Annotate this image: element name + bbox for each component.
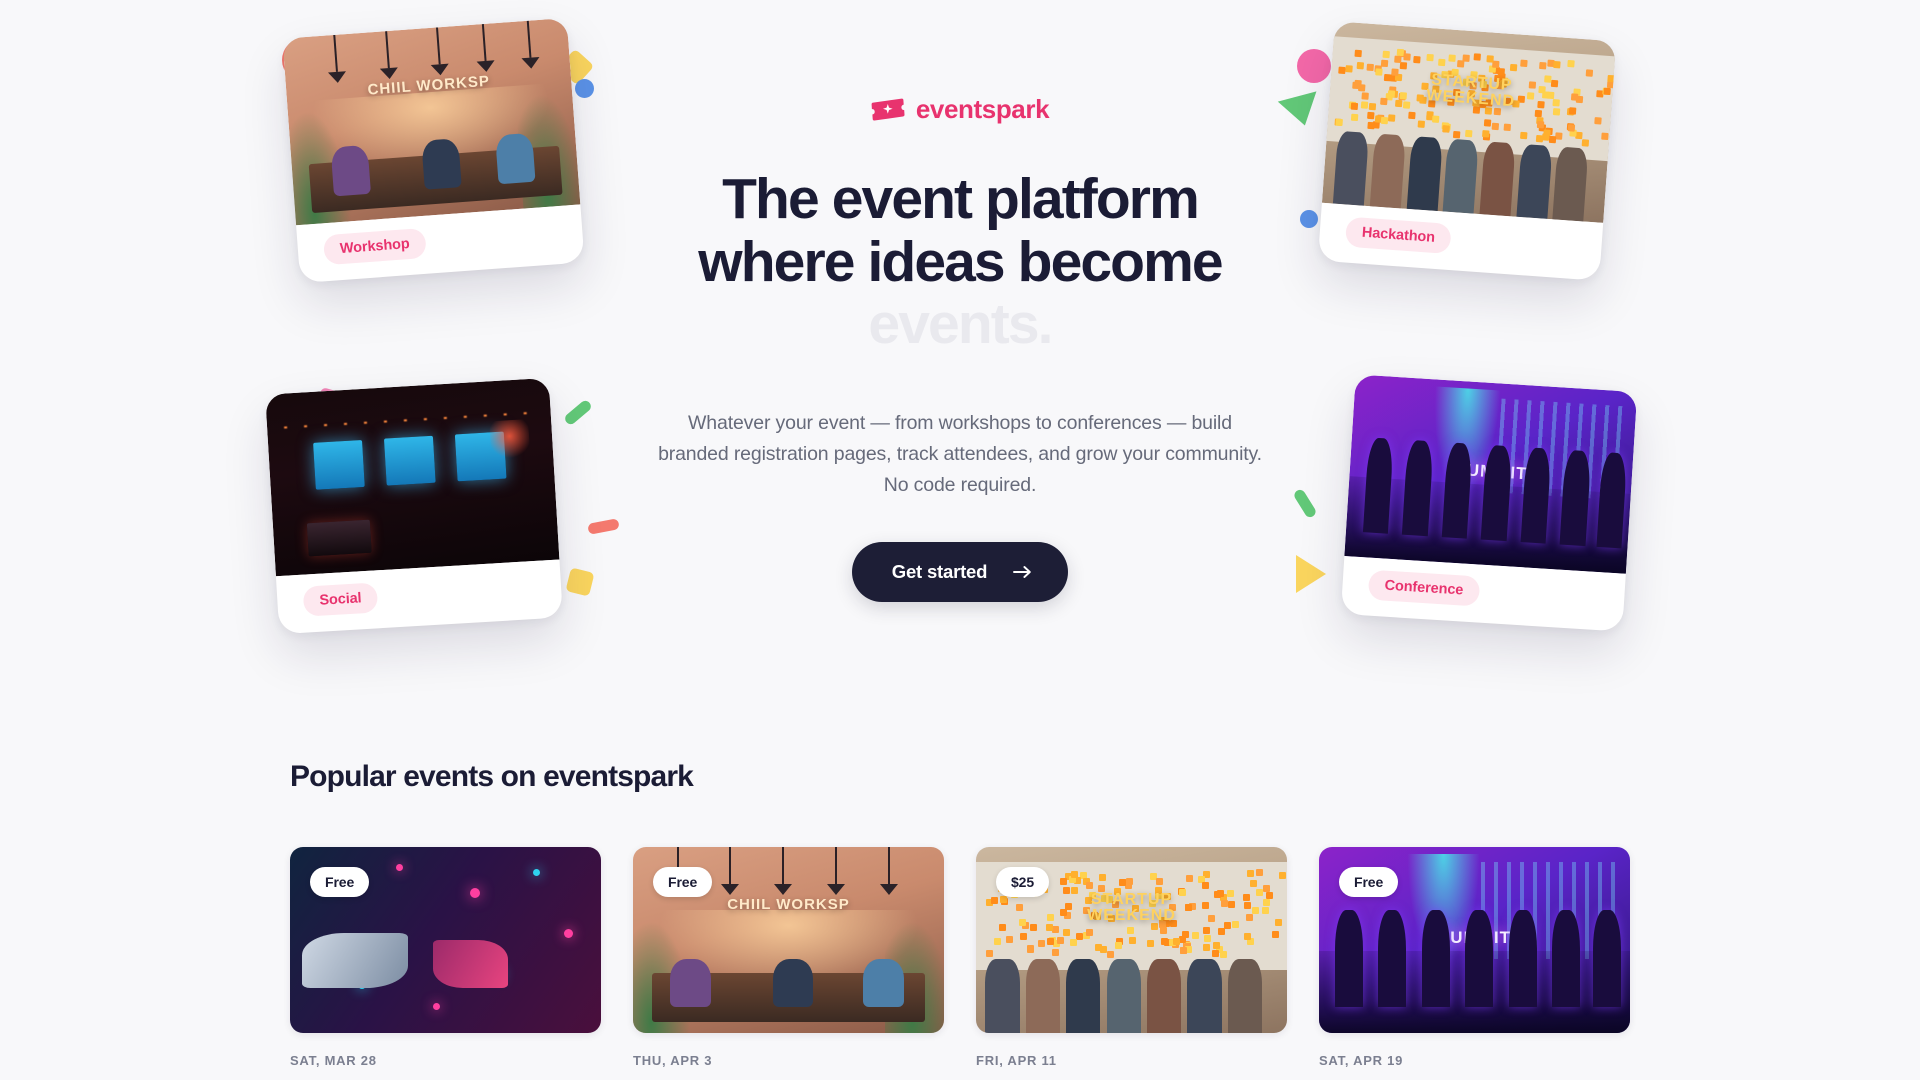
event-date: SAT, APR 19 bbox=[1319, 1053, 1630, 1068]
floating-card-conference[interactable]: SUMMIT Conference bbox=[1341, 374, 1638, 631]
brand-logo[interactable]: eventspark bbox=[640, 96, 1280, 122]
floating-card-badge: Social bbox=[303, 582, 379, 616]
headline-line-1: The event platform bbox=[640, 168, 1280, 231]
hero-content: eventspark The event platform where idea… bbox=[640, 96, 1280, 602]
event-date: SAT, MAR 28 bbox=[290, 1053, 601, 1068]
price-badge: Free bbox=[1339, 867, 1398, 897]
event-thumbnail: Free bbox=[290, 847, 601, 1033]
event-date: THU, APR 3 bbox=[633, 1053, 944, 1068]
landing-page: CHIIL WORKSP Workshop STARTUPWEEKEND bbox=[0, 0, 1920, 1080]
floating-card-workshop[interactable]: CHIIL WORKSP Workshop bbox=[282, 18, 584, 283]
headline-line-2: where ideas become bbox=[640, 231, 1280, 294]
workshop-photo: CHIIL WORKSP bbox=[282, 18, 580, 225]
ticket-sparkle-icon bbox=[871, 97, 905, 121]
decor-bar-green-2 bbox=[1292, 488, 1317, 519]
floating-card-hackathon[interactable]: STARTUPWEEKEND Hackathon bbox=[1318, 21, 1616, 281]
headline-line-3: events. bbox=[640, 293, 1280, 356]
event-card[interactable]: Free CHIIL WORKSP bbox=[633, 847, 944, 1080]
hero-section: CHIIL WORKSP Workshop STARTUPWEEKEND bbox=[0, 0, 1920, 760]
arrow-right-icon bbox=[1013, 565, 1032, 579]
price-badge: $25 bbox=[996, 867, 1049, 897]
decor-triangle-yellow bbox=[1296, 555, 1326, 593]
event-thumbnail: Free CHIIL WORKSP bbox=[633, 847, 944, 1033]
get-started-label: Get started bbox=[892, 561, 987, 583]
popular-events-section: Popular events on eventspark Free bbox=[0, 760, 1920, 1080]
decor-bar-green bbox=[563, 399, 593, 427]
decor-circle-pink bbox=[1297, 49, 1331, 83]
decor-triangle-green-2 bbox=[1278, 91, 1324, 130]
event-thumbnail: Free SUMMIT bbox=[1319, 847, 1630, 1033]
event-card[interactable]: $25 STARTUPWEEKEND bbox=[976, 847, 1287, 1080]
event-thumbnail: $25 STARTUPWEEKEND bbox=[976, 847, 1287, 1033]
social-photo bbox=[265, 378, 559, 577]
floating-card-badge: Hackathon bbox=[1345, 217, 1452, 254]
conference-photo: SUMMIT bbox=[1344, 374, 1637, 573]
event-card[interactable]: Free SUMMIT SAT, APR 19 bbox=[1319, 847, 1630, 1080]
events-grid: Free bbox=[290, 847, 1630, 1080]
decor-circle-blue bbox=[575, 79, 594, 98]
brand-name: eventspark bbox=[916, 96, 1049, 122]
get-started-button[interactable]: Get started bbox=[852, 542, 1068, 602]
decor-square-yellow-3 bbox=[565, 567, 594, 596]
page-title: The event platform where ideas become ev… bbox=[640, 168, 1280, 356]
decor-circle-blue-2 bbox=[1300, 210, 1318, 228]
floating-card-badge: Conference bbox=[1368, 570, 1480, 607]
hero-subheadline: Whatever your event — from workshops to … bbox=[640, 408, 1280, 500]
floating-card-social[interactable]: Social bbox=[265, 378, 563, 634]
floating-card-badge: Workshop bbox=[323, 228, 427, 265]
cta-container: Get started bbox=[640, 542, 1280, 602]
decor-bar-coral bbox=[587, 518, 620, 535]
price-badge: Free bbox=[310, 867, 369, 897]
section-title: Popular events on eventspark bbox=[290, 760, 1630, 794]
event-date: FRI, APR 11 bbox=[976, 1053, 1287, 1068]
hackathon-photo: STARTUPWEEKEND bbox=[1322, 21, 1616, 223]
event-card[interactable]: Free bbox=[290, 847, 601, 1080]
price-badge: Free bbox=[653, 867, 712, 897]
